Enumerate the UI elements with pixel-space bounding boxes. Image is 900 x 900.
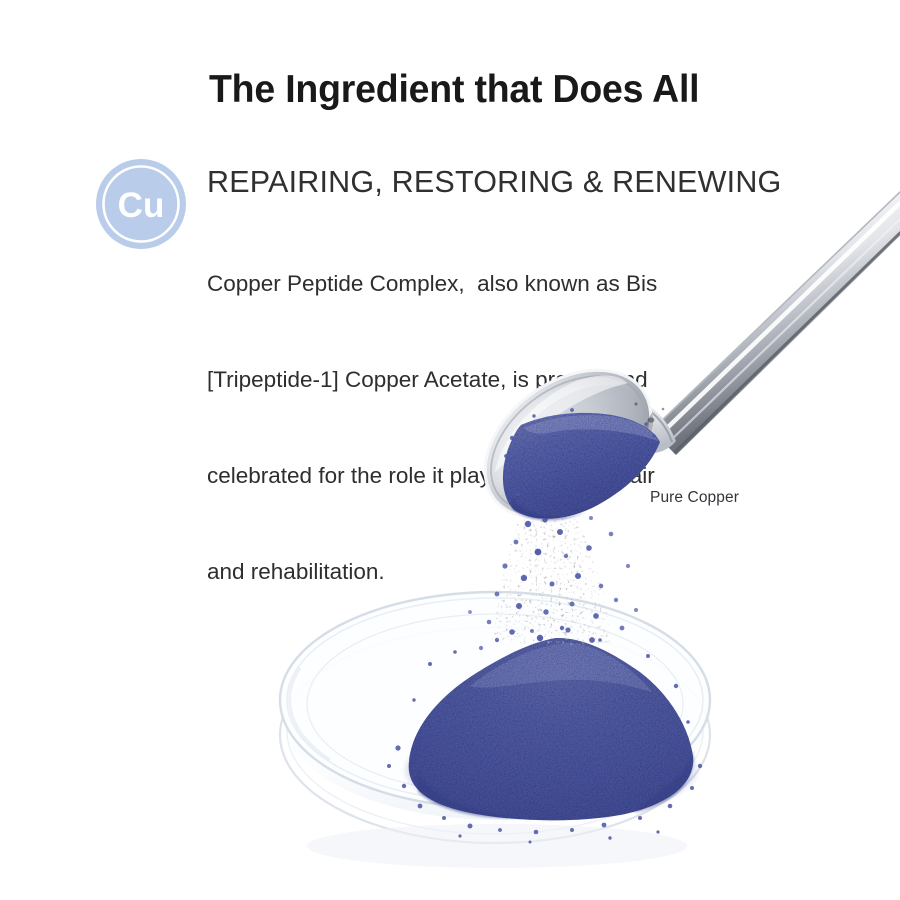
stray-grains — [387, 626, 702, 844]
copy-body-line: [Tripeptide-1] Copper Acetate, is proven… — [207, 364, 807, 396]
product-ingredient-infographic: The Ingredient that Does All Cu REPAIRIN… — [0, 0, 900, 900]
page-title: The Ingredient that Does All — [209, 68, 699, 112]
pure-copper-caption: Pure Copper — [650, 489, 739, 507]
copy-body-line: and rehabilitation. — [207, 556, 807, 588]
ingredient-copy-block: REPAIRING, RESTORING & RENEWING Copper P… — [207, 166, 807, 651]
copy-heading: REPAIRING, RESTORING & RENEWING — [207, 166, 807, 198]
copper-element-badge: Cu — [96, 159, 186, 249]
copper-powder-mound — [387, 626, 702, 844]
badge-symbol-text: Cu — [118, 186, 165, 225]
copy-body-line: celebrated for the role it plays in tiss… — [207, 460, 807, 492]
copy-body: Copper Peptide Complex, also known as Bi… — [207, 204, 807, 651]
copy-body-line: Copper Peptide Complex, also known as Bi… — [207, 268, 807, 300]
